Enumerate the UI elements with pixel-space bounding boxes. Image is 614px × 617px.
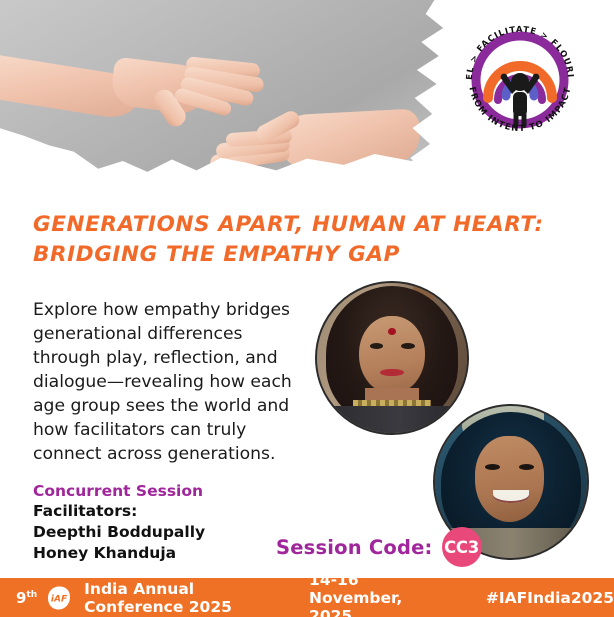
conference-logo-icon: • FEEL > FACILITATE > FLOURISH • FROM IN… xyxy=(452,12,588,148)
iaf-logo-icon: iAF xyxy=(44,585,74,611)
conference-hashtag: #IAFIndia2025 xyxy=(486,589,614,607)
session-code-group: Session Code: CC3 xyxy=(276,527,482,567)
facilitator-name: Honey Khanduja xyxy=(33,543,313,564)
session-description: Explore how empathy bridges generational… xyxy=(33,298,305,466)
conference-dates: 14-16 November, 2025 xyxy=(309,571,446,617)
footer-bar: 9th iAF India Annual Conference 2025 14-… xyxy=(0,578,614,617)
iaf-logo-text: iAF xyxy=(51,594,68,604)
conference-name: India Annual Conference 2025 xyxy=(84,580,267,616)
hero-banner: • FEEL > FACILITATE > FLOURISH • FROM IN… xyxy=(0,0,614,200)
session-code-badge: CC3 xyxy=(442,527,482,567)
session-title: GENERATIONS APART, HUMAN AT HEART: BRIDG… xyxy=(33,210,578,270)
facilitators-label: Facilitators: xyxy=(33,501,313,522)
facilitator-block: Concurrent Session Facilitators: Deepthi… xyxy=(33,481,313,564)
session-code-label: Session Code: xyxy=(276,536,433,559)
facilitator-name: Deepthi Boddupally xyxy=(33,522,313,543)
session-type-kicker: Concurrent Session xyxy=(33,481,313,501)
edition-number: 9th xyxy=(16,589,37,607)
session-poster: • FEEL > FACILITATE > FLOURISH • FROM IN… xyxy=(0,0,614,617)
